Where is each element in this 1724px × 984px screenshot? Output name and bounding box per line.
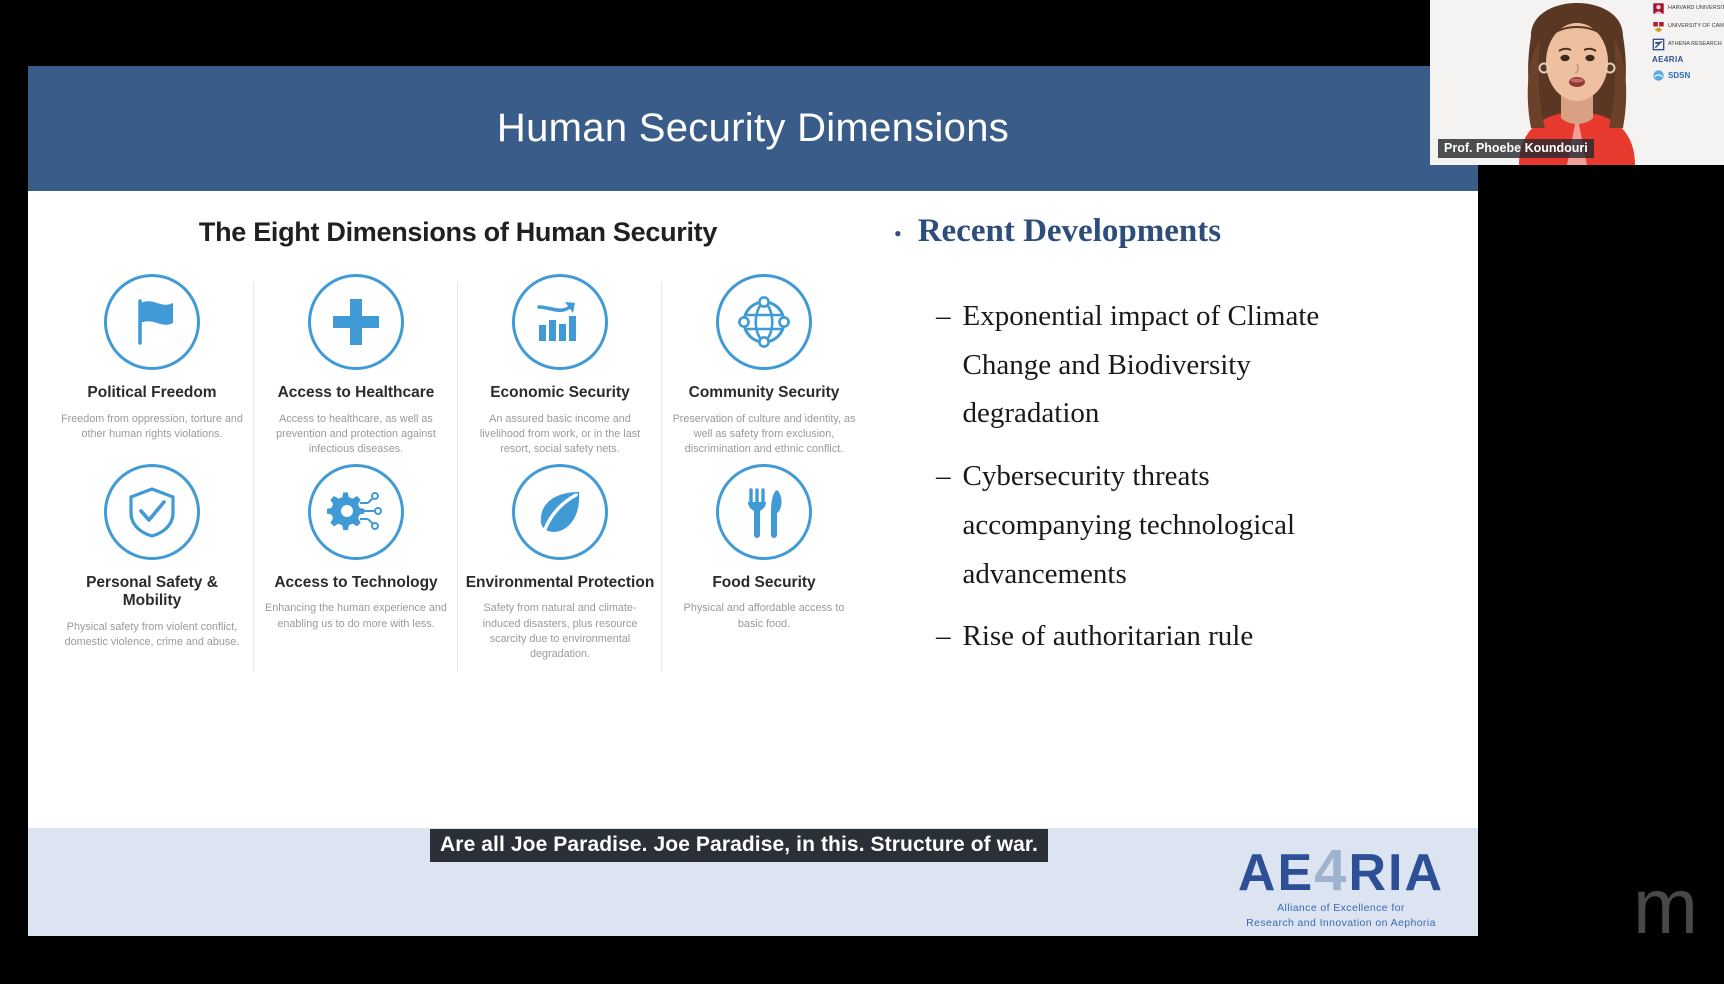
dash-glyph: – bbox=[936, 292, 951, 438]
medical-cross-icon bbox=[308, 274, 404, 370]
harvard-logo-text: HARVARD UNIVERSITY bbox=[1668, 6, 1724, 12]
ae4ria-right: RIA bbox=[1348, 844, 1444, 902]
page-title: Human Security Dimensions bbox=[497, 106, 1009, 151]
dimension-access-to-healthcare: Access to Healthcare Access to healthcar… bbox=[254, 274, 458, 458]
dimension-label: Access to Healthcare bbox=[260, 384, 452, 403]
ae4ria-logo-small: AE4RIA bbox=[1652, 56, 1684, 64]
dimension-food-security: Food Security Physical and affordable ac… bbox=[662, 464, 866, 663]
webcam-tile[interactable]: HARVARD UNIVERSITY UNIVERSITY OF CAMBRID… bbox=[1430, 0, 1724, 165]
list-item-text: Cybersecurity threats accompanying techn… bbox=[963, 452, 1363, 598]
infographic-heading: The Eight Dimensions of Human Security bbox=[38, 217, 878, 248]
dimension-label: Environmental Protection bbox=[464, 574, 656, 593]
dimension-description: Access to healthcare, as well as prevent… bbox=[260, 412, 452, 458]
dimension-access-to-technology: Access to Technology Enhancing the human… bbox=[254, 464, 458, 663]
shield-check-icon bbox=[104, 464, 200, 560]
dimension-description: Enhancing the human experience and enabl… bbox=[260, 601, 452, 632]
dimension-description: Preservation of culture and identity, as… bbox=[668, 412, 860, 458]
slide-body: The Eight Dimensions of Human Security P… bbox=[28, 191, 1478, 828]
dimension-label: Access to Technology bbox=[260, 574, 452, 593]
dimension-environmental-protection: Environmental Protection Safety from nat… bbox=[458, 464, 662, 663]
eight-dimensions-infographic: The Eight Dimensions of Human Security P… bbox=[28, 191, 888, 828]
dimension-label: Personal Safety & Mobility bbox=[56, 574, 248, 611]
dimension-personal-safety-mobility: Personal Safety & Mobility Physical safe… bbox=[50, 464, 254, 663]
list-item-text: Exponential impact of Climate Change and… bbox=[963, 292, 1363, 438]
sdsn-logo: SDSN bbox=[1652, 69, 1690, 82]
dash-glyph: – bbox=[936, 452, 951, 598]
corner-watermark: m bbox=[1633, 861, 1696, 952]
list-item-text: Rise of authoritarian rule bbox=[963, 612, 1254, 661]
growth-chart-icon bbox=[512, 274, 608, 370]
dimension-political-freedom: Political Freedom Freedom from oppressio… bbox=[50, 274, 254, 458]
gear-circuit-icon bbox=[308, 464, 404, 560]
flag-icon bbox=[104, 274, 200, 370]
recent-developments-panel: • Recent Developments – Exponential impa… bbox=[888, 191, 1478, 828]
dash-glyph: – bbox=[936, 612, 951, 661]
ae4ria-four: 4 bbox=[1314, 838, 1348, 903]
dimensions-grid: Political Freedom Freedom from oppressio… bbox=[38, 274, 878, 662]
ae4ria-tagline-1: Alliance of Excellence for bbox=[1238, 902, 1444, 915]
ae4ria-logo-text: AE4RIA bbox=[1652, 56, 1684, 64]
bullet-glyph: • bbox=[894, 223, 902, 245]
globe-community-icon bbox=[716, 274, 812, 370]
list-item: – Cybersecurity threats accompanying tec… bbox=[894, 452, 1438, 598]
athena-logo: ATHENA RESEARCH bbox=[1652, 38, 1722, 51]
dimension-description: An assured basic income and livelihood f… bbox=[464, 412, 656, 458]
dimension-description: Physical safety from violent conflict, d… bbox=[56, 620, 248, 651]
harvard-logo: HARVARD UNIVERSITY bbox=[1652, 2, 1724, 15]
screen-root: Human Security Dimensions The Eight Dime… bbox=[0, 0, 1724, 984]
recent-developments-heading-row: • Recent Developments bbox=[894, 213, 1438, 250]
leaf-icon bbox=[512, 464, 608, 560]
slide-header: Human Security Dimensions bbox=[28, 66, 1478, 191]
ae4ria-tagline-2: Research and Innovation on Aephoria bbox=[1238, 917, 1444, 930]
list-item: – Exponential impact of Climate Change a… bbox=[894, 292, 1438, 438]
fork-knife-icon bbox=[716, 464, 812, 560]
dimension-label: Political Freedom bbox=[56, 384, 248, 403]
sdsn-logo-text: SDSN bbox=[1668, 72, 1690, 80]
dimension-economic-security: Economic Security An assured basic incom… bbox=[458, 274, 662, 458]
cambridge-logo-text: UNIVERSITY OF CAMBRIDGE bbox=[1668, 24, 1724, 30]
ae4ria-left: AE bbox=[1238, 844, 1314, 902]
ae4ria-wordmark: AE4RIA bbox=[1238, 842, 1444, 900]
dimension-description: Freedom from oppression, torture and oth… bbox=[56, 412, 248, 443]
cambridge-logo: UNIVERSITY OF CAMBRIDGE bbox=[1652, 20, 1724, 33]
dimension-label: Economic Security bbox=[464, 384, 656, 403]
dimension-label: Community Security bbox=[668, 384, 860, 403]
athena-logo-text: ATHENA RESEARCH bbox=[1668, 42, 1722, 48]
section-heading: Recent Developments bbox=[918, 213, 1221, 250]
dimension-community-security: Community Security Preservation of cultu… bbox=[662, 274, 866, 458]
dimension-label: Food Security bbox=[668, 574, 860, 593]
slide-footer: AE4RIA Alliance of Excellence for Resear… bbox=[28, 828, 1478, 936]
presentation-slide: Human Security Dimensions The Eight Dime… bbox=[28, 66, 1478, 936]
list-item: – Rise of authoritarian rule bbox=[894, 612, 1438, 661]
dimension-description: Physical and affordable access to basic … bbox=[668, 601, 860, 632]
speaker-name-label: Prof. Phoebe Koundouri bbox=[1438, 139, 1594, 158]
ae4ria-logo: AE4RIA Alliance of Excellence for Resear… bbox=[1238, 842, 1444, 930]
webcam-logo-strip: HARVARD UNIVERSITY UNIVERSITY OF CAMBRID… bbox=[1652, 2, 1722, 82]
dimension-description: Safety from natural and climate-induced … bbox=[464, 601, 656, 662]
